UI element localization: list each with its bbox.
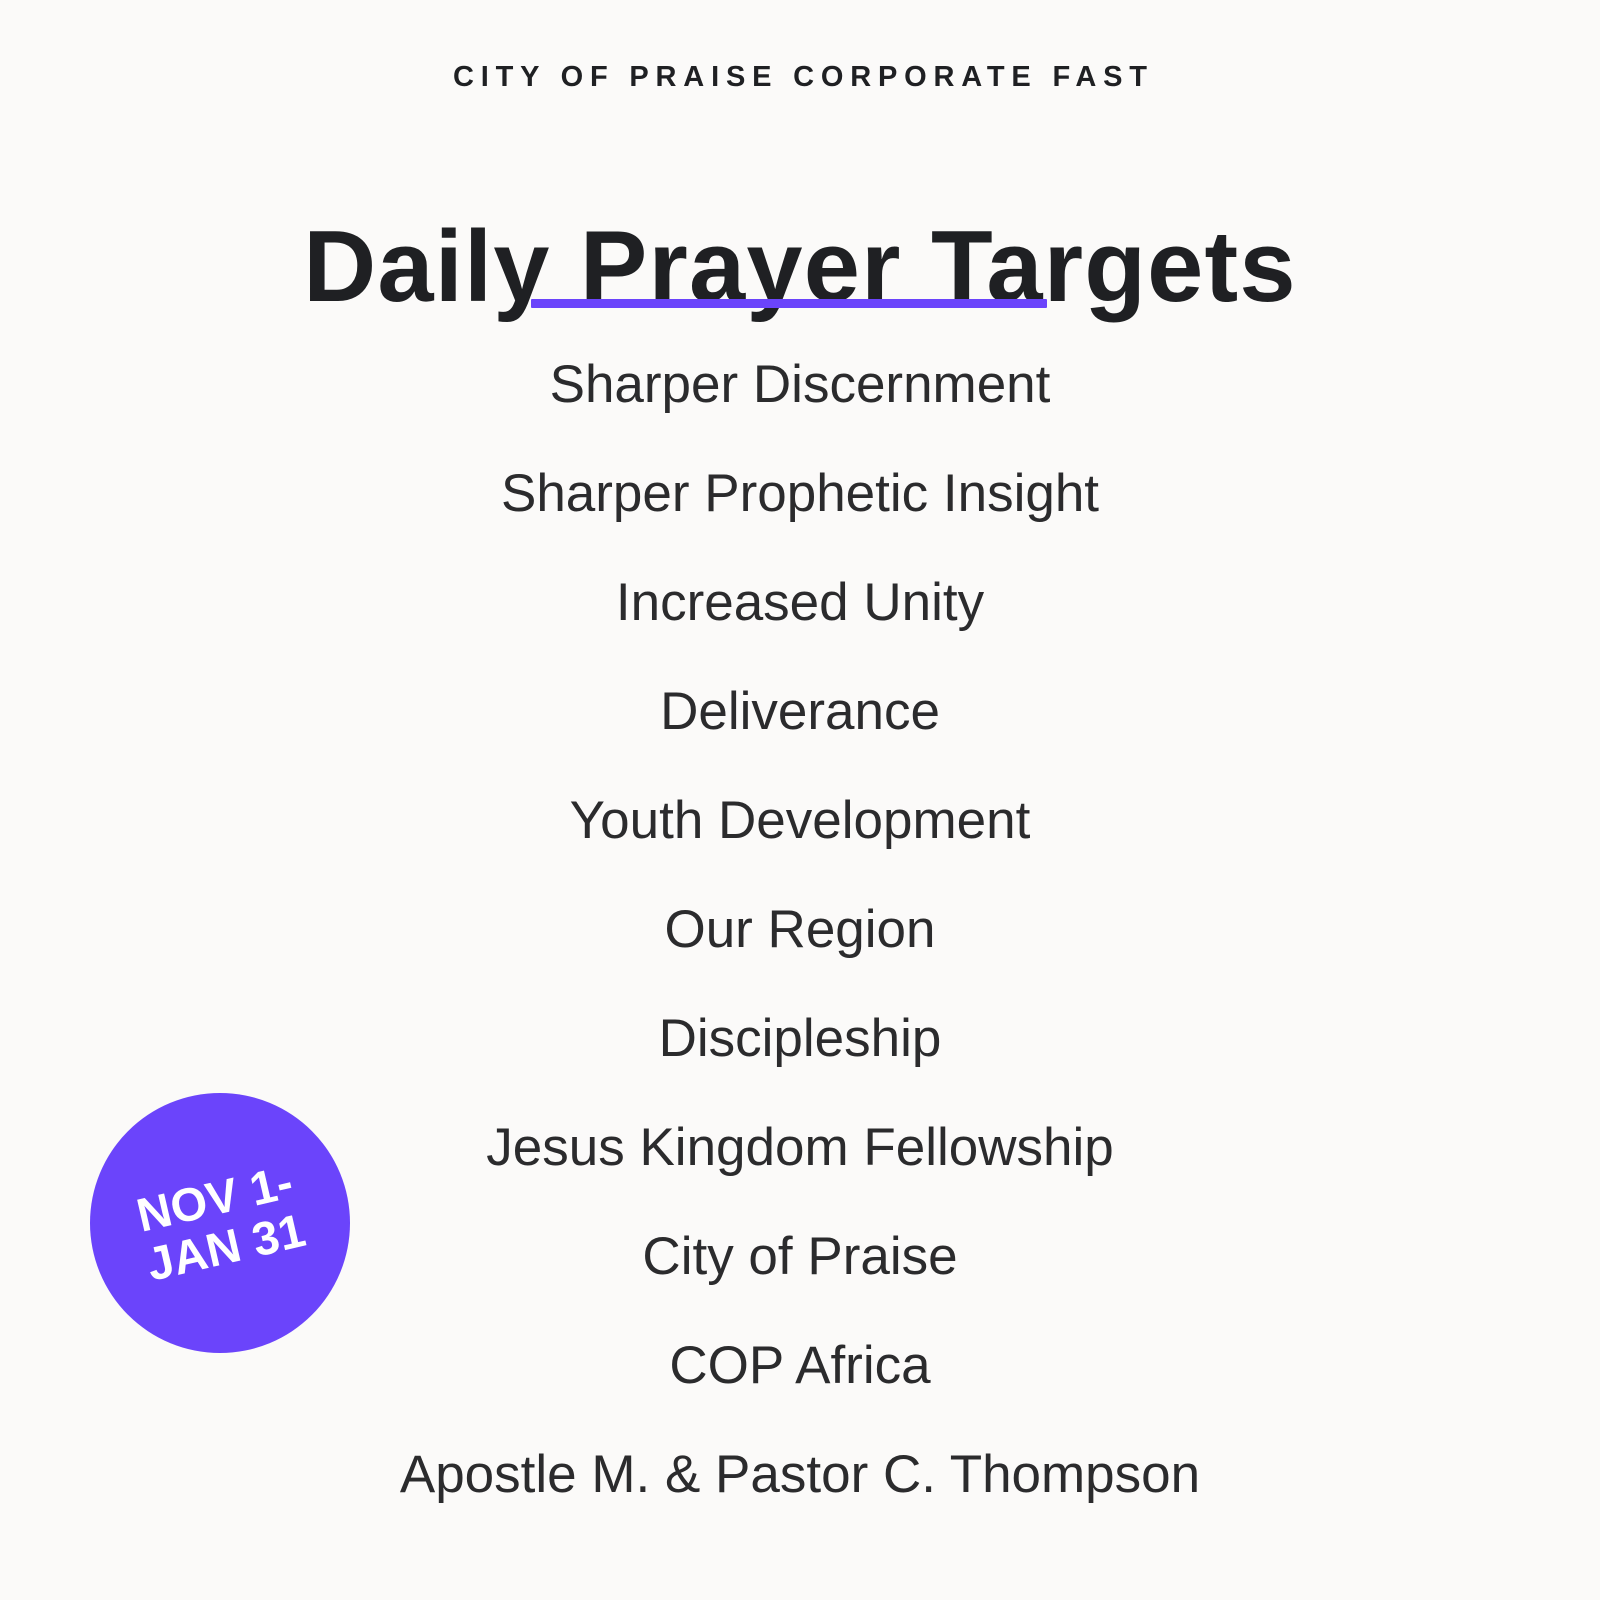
prayer-targets-poster: CITY OF PRAISE CORPORATE FAST Daily Pray…: [0, 0, 1600, 1600]
list-item: Increased Unity: [0, 548, 1600, 657]
list-item: Apostle M. & Pastor C. Thompson: [0, 1420, 1600, 1529]
list-item: Discipleship: [0, 984, 1600, 1093]
list-item: Youth Development: [0, 766, 1600, 875]
poster-eyebrow: CITY OF PRAISE CORPORATE FAST: [0, 60, 1600, 95]
list-item: Sharper Prophetic Insight: [0, 439, 1600, 548]
list-item: Deliverance: [0, 657, 1600, 766]
list-item: Sharper Discernment: [0, 330, 1600, 439]
list-item: Our Region: [0, 875, 1600, 984]
date-range-badge-text: NOV 1- JAN 31: [130, 1156, 309, 1289]
title-underline-rule: [531, 299, 1047, 308]
date-range-badge: NOV 1- JAN 31: [90, 1093, 350, 1353]
